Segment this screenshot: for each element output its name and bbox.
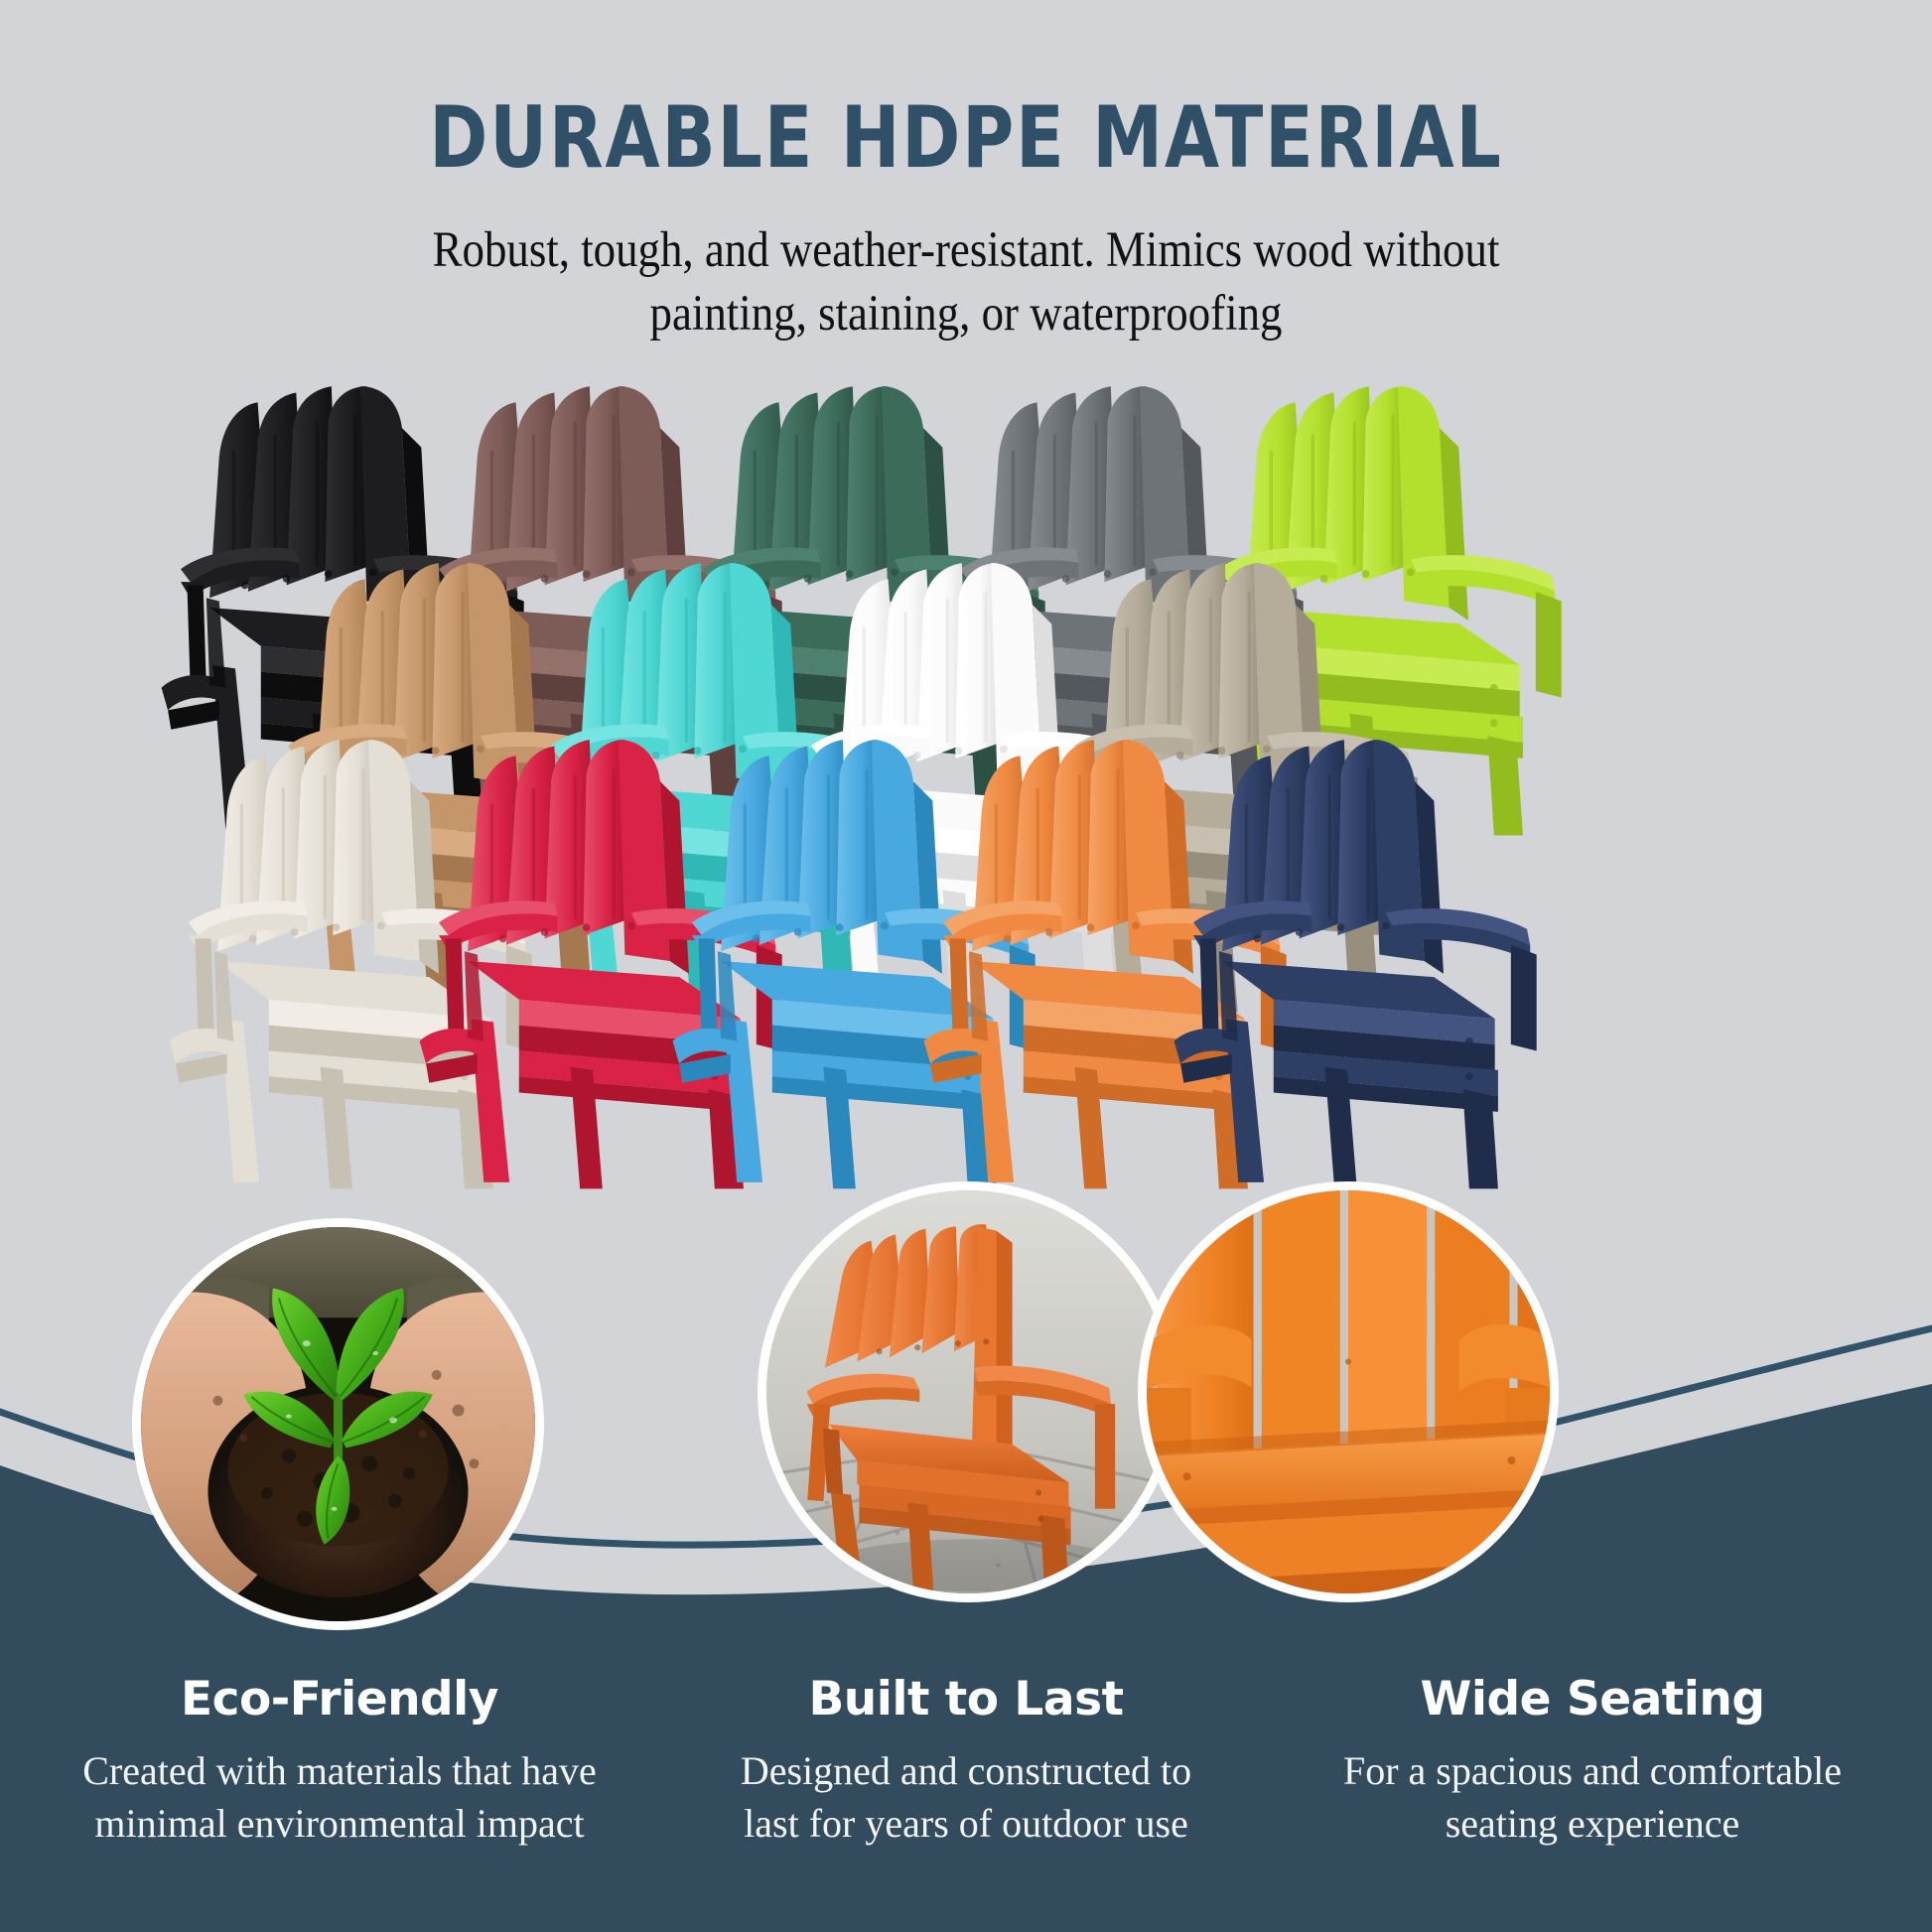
feature-desc-line-2: seating experience — [1446, 1801, 1740, 1846]
feature-title-wide-seating: Wide Seating — [1295, 1672, 1890, 1726]
page-subtitle: Robust, tough, and weather-resistant. Mi… — [372, 181, 1561, 346]
chair-swatch-navy[interactable] — [1152, 711, 1569, 1192]
orange-chair-patio-image — [766, 1190, 1170, 1593]
feature-desc-line-1: For a spacious and comfortable — [1343, 1748, 1842, 1793]
header-block: DURABLE HDPE MATERIAL Robust, tough, and… — [0, 0, 1932, 346]
subtitle-line-2: painting, staining, or waterproofing — [372, 282, 1561, 345]
feature-image-eco-friendly — [132, 1218, 544, 1630]
subtitle-line-1: Robust, tough, and weather-resistant. Mi… — [372, 218, 1561, 282]
page-title: DURABLE HDPE MATERIAL — [77, 0, 1855, 181]
feature-desc-line-2: last for years of outdoor use — [744, 1801, 1188, 1846]
feature-desc-wide-seating: For a spacious and comfortable seating e… — [1295, 1744, 1890, 1850]
feature-desc-line-1: Designed and constructed to — [741, 1748, 1191, 1793]
feature-desc-line-2: minimal environmental impact — [94, 1801, 584, 1846]
feature-desc-eco-friendly: Created with materials that have minimal… — [42, 1744, 637, 1850]
feature-image-built-to-last — [758, 1181, 1178, 1602]
orange-chair-seat-closeup-image — [1147, 1190, 1550, 1593]
feature-desc-built-to-last: Designed and constructed to last for yea… — [668, 1744, 1264, 1850]
feature-caption-built-to-last: Built to Last Designed and constructed t… — [668, 1672, 1264, 1850]
feature-title-eco-friendly: Eco-Friendly — [42, 1672, 637, 1726]
chair-svg — [1152, 711, 1569, 1192]
chair-color-grid — [0, 357, 1932, 1251]
hands-seedling-image — [141, 1227, 535, 1621]
feature-caption-eco-friendly: Eco-Friendly Created with materials that… — [42, 1672, 637, 1850]
feature-caption-wide-seating: Wide Seating For a spacious and comforta… — [1295, 1672, 1890, 1850]
feature-desc-line-1: Created with materials that have — [82, 1748, 597, 1793]
feature-title-built-to-last: Built to Last — [668, 1672, 1264, 1726]
infographic-canvas: DURABLE HDPE MATERIAL Robust, tough, and… — [0, 0, 1932, 1932]
feature-image-wide-seating — [1138, 1181, 1559, 1602]
